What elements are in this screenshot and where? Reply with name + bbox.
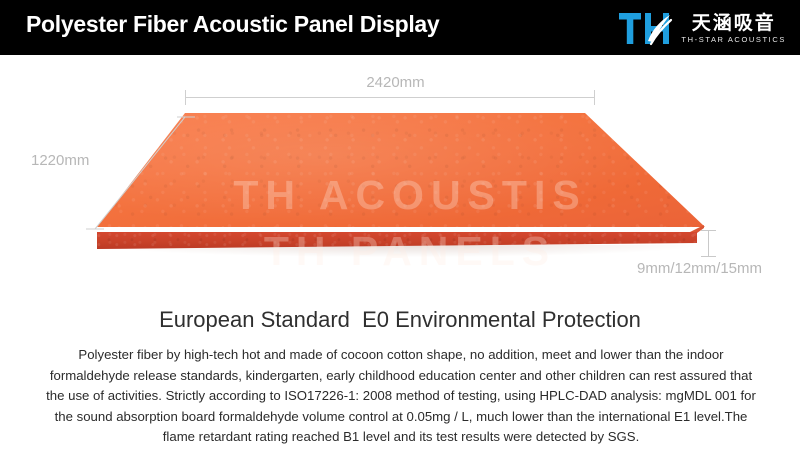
height-dimension-label: 1220mm (31, 152, 89, 169)
description-paragraph: Polyester fiber by high-tech hot and mad… (46, 345, 756, 448)
th-monogram-icon (618, 8, 674, 48)
width-dimension-value: 2420mm (366, 74, 424, 91)
width-dimension-label: 2420mm (0, 74, 800, 91)
height-dimension-line (80, 107, 200, 237)
brand-logo: 天涵吸音 TH-STAR ACOUSTICS (618, 6, 786, 50)
product-illustration: TH ACOUSTIS TH PANELS 2420mm 1220mm 9mm/… (0, 55, 800, 300)
page-title: Polyester Fiber Acoustic Panel Display (26, 11, 439, 38)
width-dimension-line (185, 97, 595, 98)
logo-wordmark: 天涵吸音 TH-STAR ACOUSTICS (681, 8, 786, 48)
logo-english-name: TH-STAR ACOUSTICS (681, 34, 786, 45)
section-subheading: European Standard E0 Environmental Prote… (0, 307, 800, 333)
product-display-page: Polyester Fiber Acoustic Panel Display (0, 0, 800, 467)
logo-chinese-name: 天涵吸音 (692, 12, 776, 34)
dimension-annotations: 2420mm 1220mm 9mm/12mm/15mm (0, 55, 800, 300)
thickness-dimension-label: 9mm/12mm/15mm (637, 260, 762, 277)
thickness-dimension-marker (708, 230, 709, 257)
header-bar: Polyester Fiber Acoustic Panel Display (0, 0, 800, 55)
